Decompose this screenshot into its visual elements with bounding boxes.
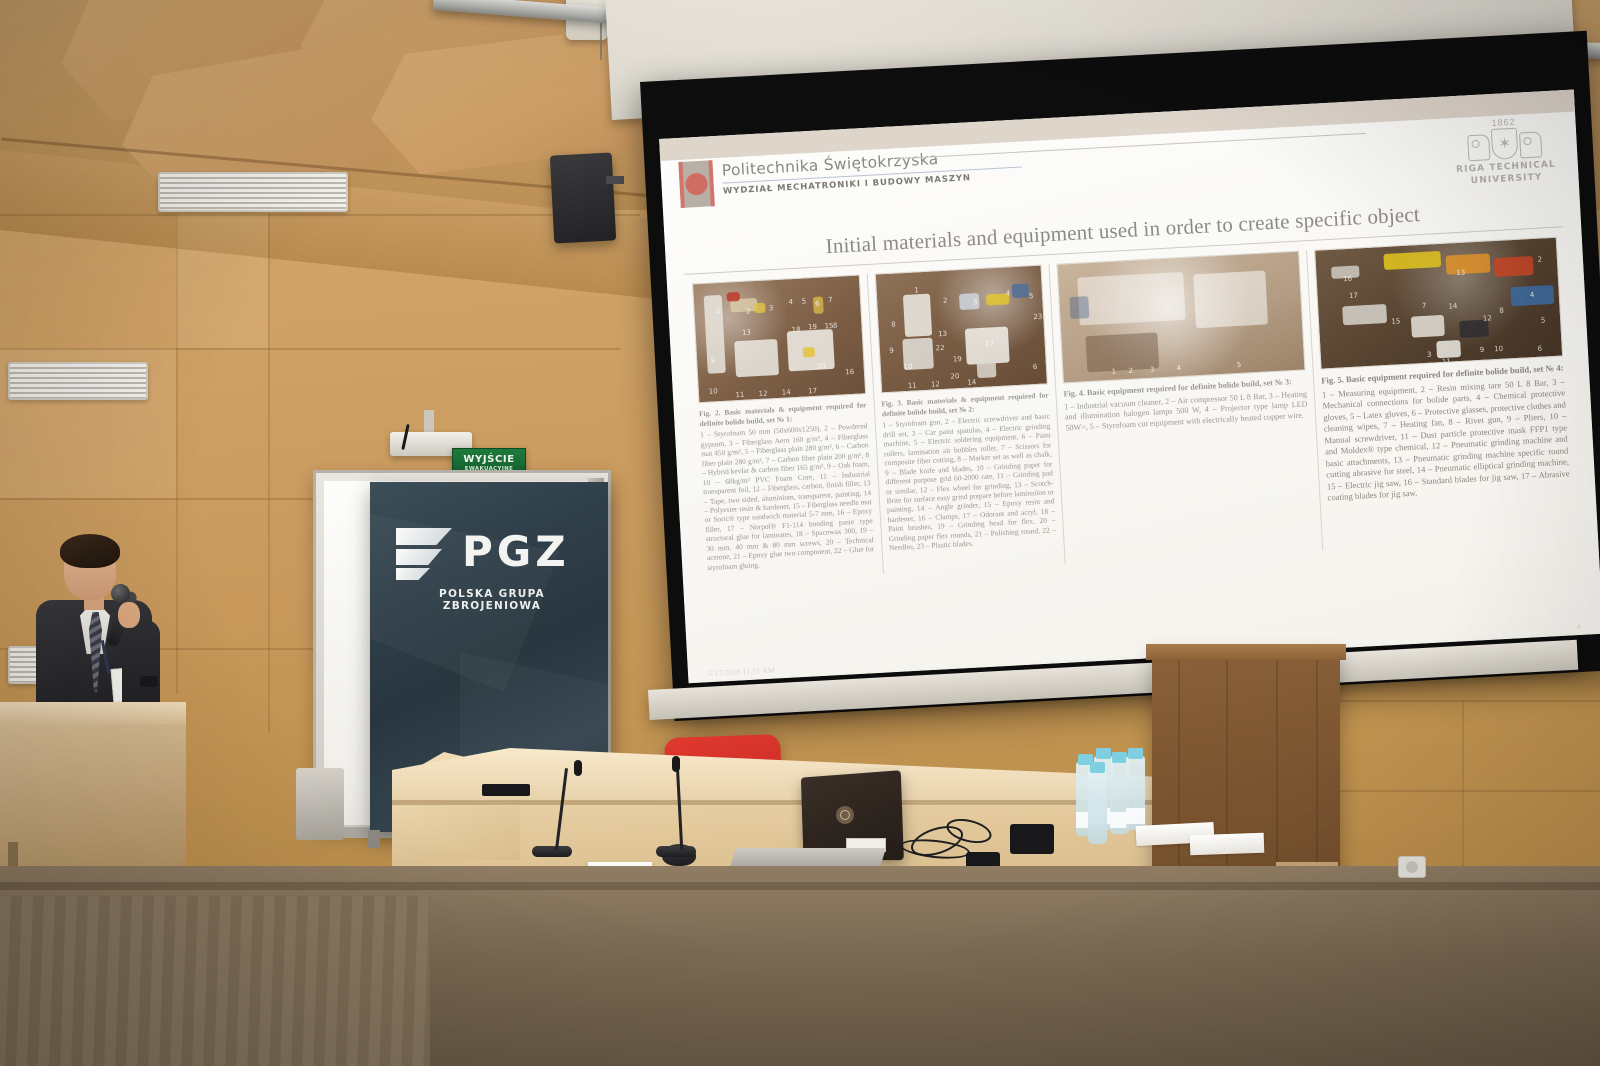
figure-body-fig5: 1 – Measuring equipment, 2 – Resin mixin…	[1322, 376, 1570, 503]
banner-stand	[368, 830, 380, 848]
speaker-hand	[118, 602, 140, 628]
presentation-slide: Politechnika Świętokrzyska WYDZIAŁ MECHA…	[659, 90, 1600, 684]
bottle-cap	[1090, 762, 1105, 773]
slide-timestamp: 5/17/2018 11:51 AM	[708, 666, 775, 679]
heraldic-lion-icon	[1467, 134, 1490, 161]
pgz-chevron-icon	[396, 526, 452, 578]
figure-photo-fig5: 2 3 4 5 6 7 8 9 10 11 12 13 14	[1314, 237, 1563, 370]
bottle-label	[1126, 808, 1145, 824]
figure-column-fig4: 1 2 3 4 5 Fig. 4. Basic equipment requir…	[1049, 251, 1323, 565]
water-bottle	[1088, 770, 1107, 844]
figure-caption-fig5: Fig. 5. Basic equipment required for def…	[1321, 363, 1571, 505]
figure-body-fig2: 1 – Styrofoam 50 mm (50x600x1250), 2 – P…	[700, 421, 874, 571]
institution-texts: Politechnika Świętokrzyska WYDZIAŁ MECHA…	[721, 143, 1023, 196]
carpet	[0, 896, 430, 1066]
waste-bin	[296, 768, 344, 840]
light-suspension-wire	[600, 22, 602, 60]
bottle-cap	[1096, 748, 1111, 759]
dell-circle-logo-icon	[836, 806, 854, 824]
figure-photo-fig4: 1 2 3 4 5	[1057, 251, 1306, 384]
wall-panel-seam	[0, 214, 640, 216]
desk-microphone-capsule	[672, 756, 680, 772]
presentation-clicker	[140, 676, 158, 687]
bottle-cap	[1112, 752, 1127, 763]
figure-caption-fig2: Fig. 2. Basic materials & equipment requ…	[699, 401, 875, 573]
pk-emblem-icon	[678, 160, 714, 208]
microphone-head	[111, 584, 130, 603]
figure-caption-fig4: Fig. 4. Basic equipment required for def…	[1063, 377, 1308, 434]
podium-top-surface	[1146, 644, 1346, 660]
figure-column-fig3: 1 2 3 4 5 6 8 9 10 11 12 13 14	[866, 264, 1065, 573]
figure-photo-fig2: 1 2 3 4 5 6 7 8 9 10 11 12 13	[692, 275, 866, 404]
wall-speaker	[550, 152, 617, 243]
figure-column-fig2: 1 2 3 4 5 6 7 8 9 10 11 12 13	[685, 274, 883, 583]
side-table-top	[0, 702, 186, 724]
desk-microphone-capsule	[574, 760, 582, 776]
device-dock	[1010, 824, 1054, 854]
figure-caption-fig3: Fig. 3. Basic materials & equipment requ…	[881, 391, 1057, 553]
figure-column-fig5: 2 3 4 5 6 7 8 9 10 11 12 13 14	[1306, 237, 1580, 551]
speaker-mount-arm	[606, 176, 624, 184]
rtu-crest-icon: ✶	[1454, 126, 1555, 162]
exit-sign-primary-label: WYJŚCIE	[463, 455, 514, 465]
wall-panel-seam	[268, 214, 270, 734]
lecture-hall-photo: Politechnika Świętokrzyska WYDZIAŁ MECHA…	[0, 0, 1600, 1066]
desk-microphone-base	[532, 846, 572, 857]
bottle-cap	[1128, 748, 1143, 759]
projection-screen-frame: Politechnika Świętokrzyska WYDZIAŁ MECHA…	[640, 31, 1600, 721]
hvac-vent	[158, 172, 348, 212]
desk-remote	[482, 784, 530, 796]
desk-microphone-base	[656, 846, 696, 857]
heraldic-lion-icon	[1519, 131, 1542, 158]
slide-page-number: 4	[1576, 622, 1581, 631]
wall-panel-seam	[1330, 790, 1600, 792]
pgz-tagline: POLSKA GRUPA ZBROJENIOWA	[394, 588, 590, 612]
figure-body-fig3: 1 – Styrofoam gun, 2 – Electric screwdri…	[882, 412, 1056, 553]
speaker-hair	[60, 534, 120, 568]
figure-columns: 1 2 3 4 5 6 7 8 9 10 11 12 13	[685, 237, 1580, 584]
floor-transition-strip	[0, 882, 1600, 890]
hvac-vent	[8, 362, 148, 400]
side-table	[0, 702, 186, 872]
pgz-logo: PGZ	[396, 526, 584, 578]
figure-photo-fig3: 1 2 3 4 5 6 8 9 10 11 12 13 14	[874, 265, 1048, 394]
wall-panel-seam	[1462, 700, 1464, 870]
shield-icon: ✶	[1491, 128, 1519, 160]
rtu-logo: 1862 ✶ RIGA TECHNICAL UNIVERSITY	[1453, 114, 1560, 188]
pgz-brand-text: PGZ	[462, 531, 570, 573]
desk-name-card	[1190, 833, 1265, 856]
projection-screen-surface: Politechnika Świętokrzyska WYDZIAŁ MECHA…	[659, 90, 1600, 684]
wall-panel	[176, 214, 268, 348]
wall-power-socket	[1398, 856, 1426, 878]
wall-panel-seam	[1330, 700, 1600, 702]
